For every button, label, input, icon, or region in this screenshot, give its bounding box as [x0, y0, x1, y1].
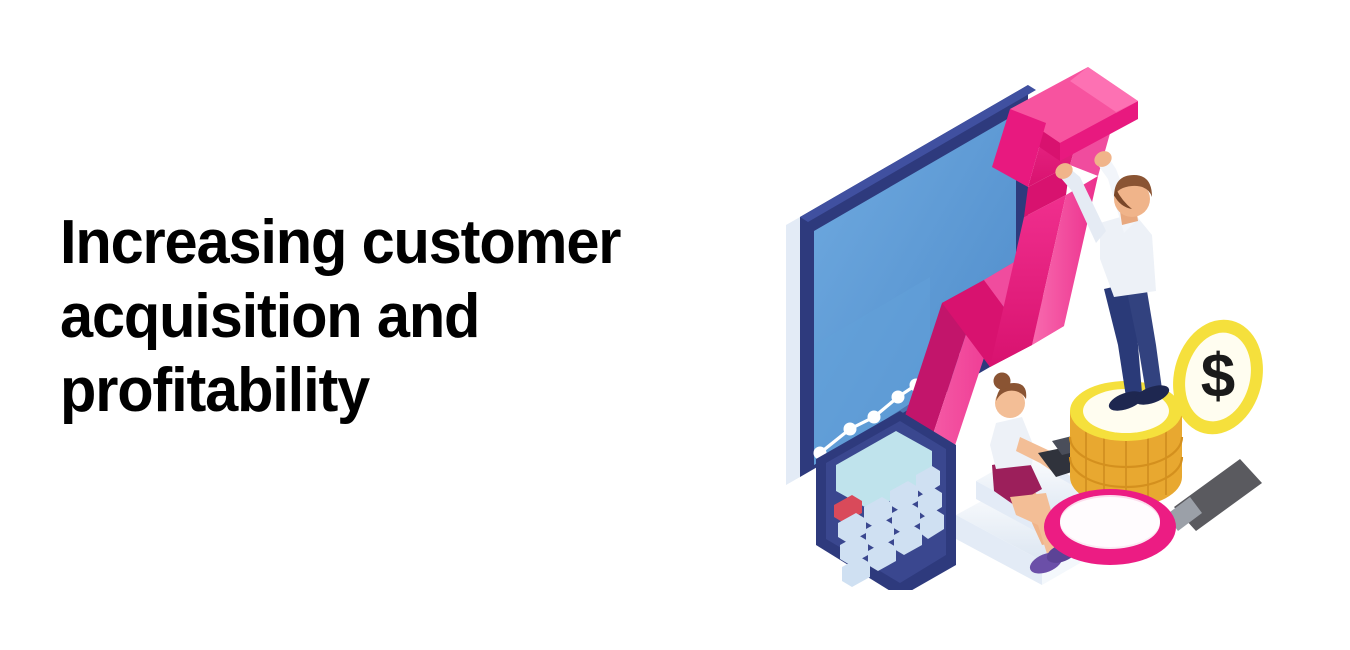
headline-line-3: profitability — [60, 354, 790, 428]
page-title: Increasing customer acquisition and prof… — [60, 206, 820, 428]
business-growth-illustration: $ — [770, 45, 1290, 590]
dollar-sign-glyph: $ — [1201, 342, 1235, 411]
headline-line-2: acquisition and — [60, 280, 790, 354]
headline-line-1: Increasing customer — [60, 206, 790, 280]
page-root: Increasing customer acquisition and prof… — [0, 0, 1350, 650]
